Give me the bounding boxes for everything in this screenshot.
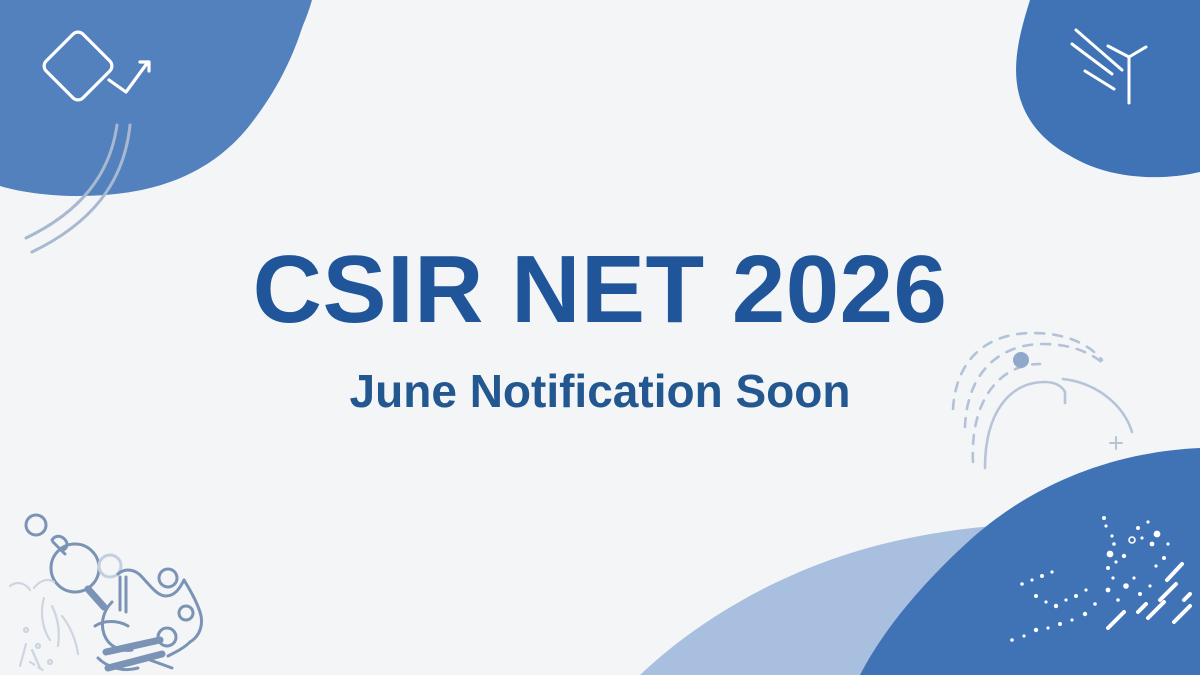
poster-canvas: CSIR NET 2026 June Notification Soon	[0, 0, 1200, 675]
abstract-line-art-doodle	[26, 515, 202, 670]
doodle-faint-marks	[10, 580, 78, 672]
orbit-dot	[1013, 352, 1029, 368]
solid-orbit-arcs	[985, 379, 1132, 468]
small-plus-mark	[1110, 437, 1122, 449]
dashed-orbit-arcs	[953, 333, 1104, 462]
blue-blob-top-right-fill	[1020, 0, 1200, 177]
decorative-background	[0, 0, 1200, 675]
